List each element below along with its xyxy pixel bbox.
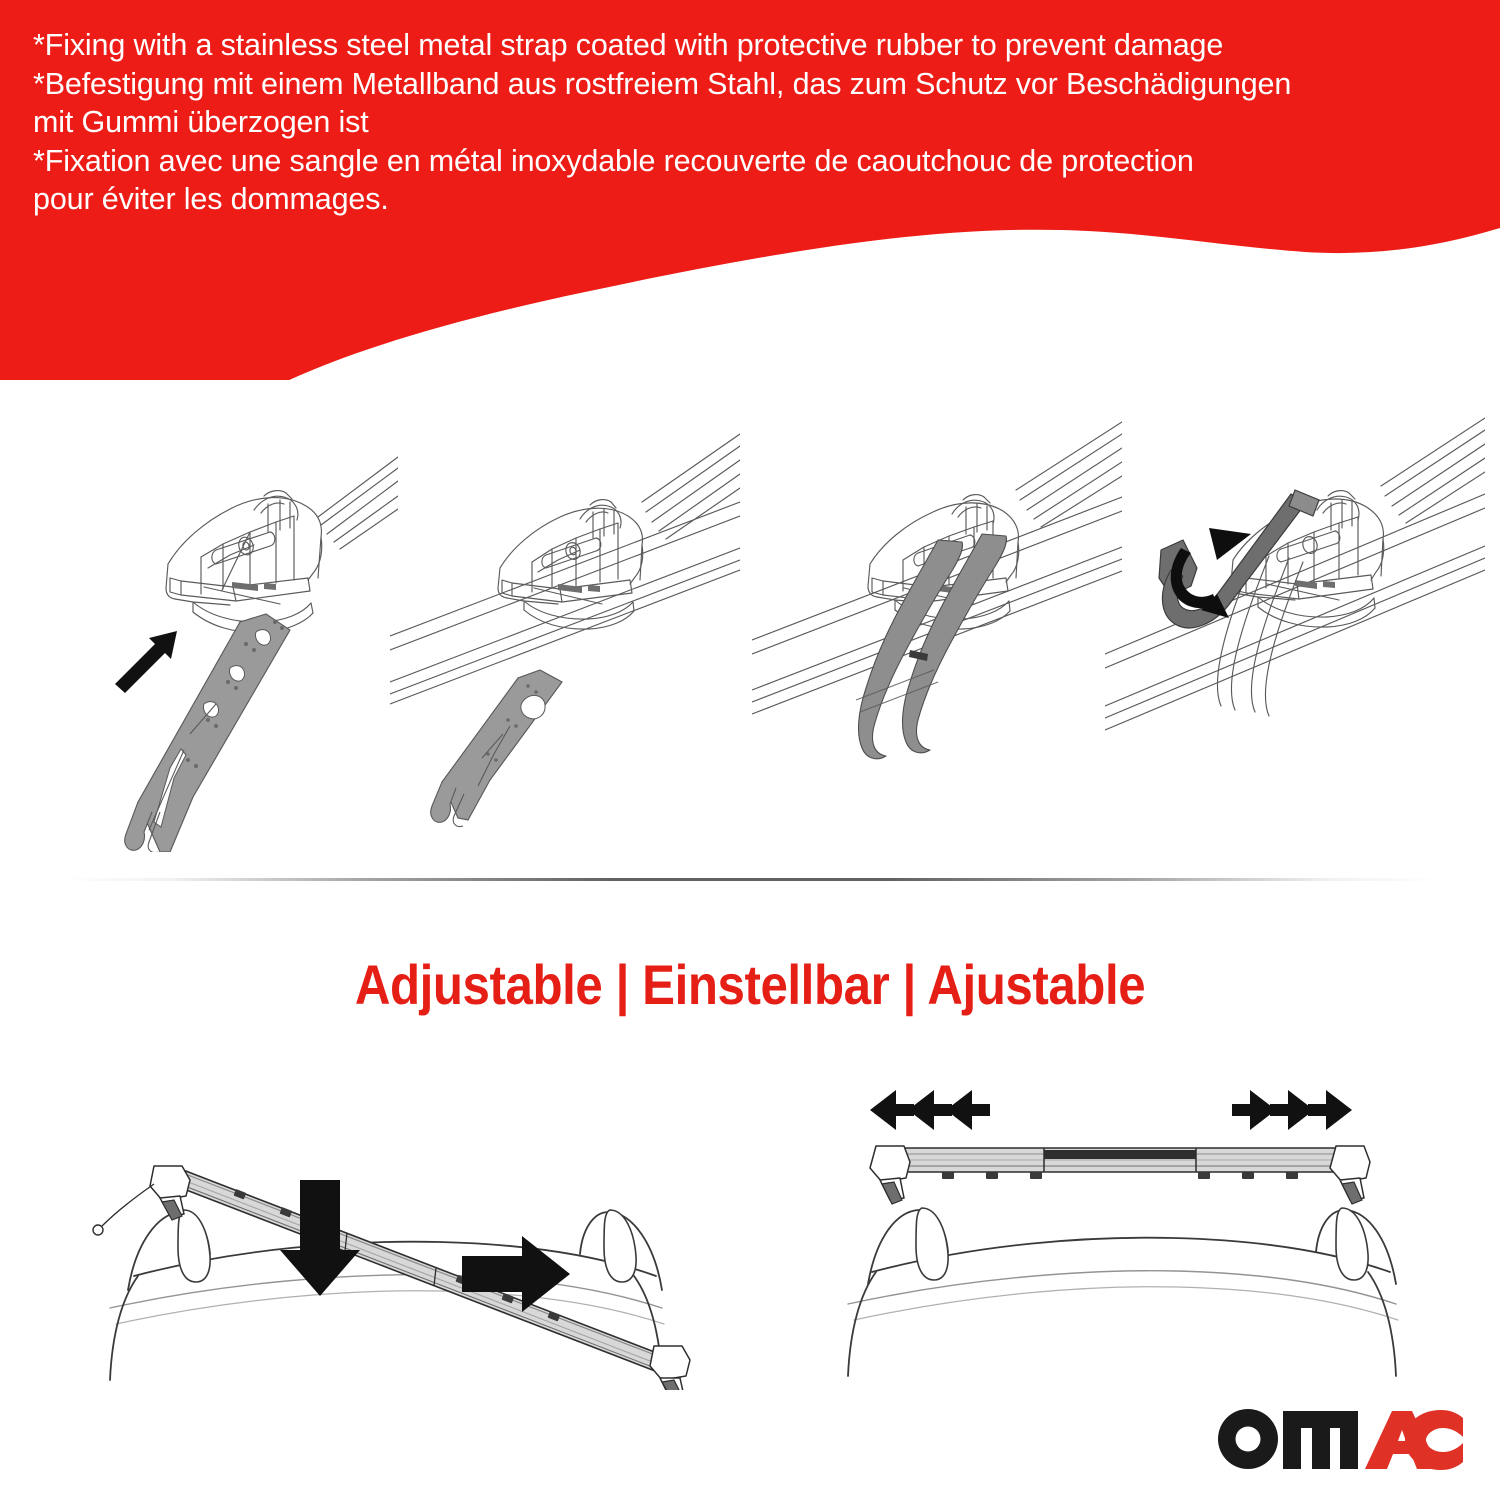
illustration-height-slide-adjust: [50, 1080, 760, 1390]
crossbar-horizontal: [870, 1146, 1370, 1204]
triple-right-arrow-icon: [1232, 1090, 1352, 1130]
section-divider: [60, 878, 1440, 881]
omac-logo: [1212, 1392, 1470, 1474]
banner-description-text: *Fixing with a stainless steel metal str…: [33, 26, 1478, 219]
logo-letter-o: [1218, 1409, 1278, 1469]
illustration-width-adjust: [790, 1080, 1450, 1390]
crossbar-tilted: [93, 1166, 690, 1390]
triple-left-arrow-icon: [870, 1090, 990, 1130]
width-adjust-illustration: [790, 1080, 1450, 1390]
infographic-page: *Fixing with a stainless steel metal str…: [0, 0, 1500, 1500]
adjustment-illustrations-row: [0, 1080, 1500, 1390]
step-3-illustration: [752, 382, 1122, 852]
metal-strap: [431, 670, 562, 827]
step-2-illustration: [390, 382, 740, 852]
logo-letter-m: [1283, 1411, 1358, 1469]
step-2-position-foot: [390, 382, 740, 852]
step-3-wrap-strap: [752, 382, 1122, 852]
installation-steps-row: [0, 382, 1500, 852]
step-4-illustration: [1105, 382, 1485, 852]
adjustable-headline: Adjustable | Einstellbar | Ajustable: [90, 952, 1410, 1017]
height-slide-illustration: [50, 1080, 760, 1390]
metal-strap-wrapped: [856, 534, 1007, 759]
omac-logo-mark: [1212, 1392, 1470, 1474]
step-1-insert-strap: [18, 382, 398, 852]
header-banner: *Fixing with a stainless steel metal str…: [0, 0, 1500, 380]
step-4-tighten-hex-key: [1105, 382, 1485, 852]
up-arrow-icon: [115, 631, 177, 693]
step-1-illustration: [18, 382, 398, 852]
